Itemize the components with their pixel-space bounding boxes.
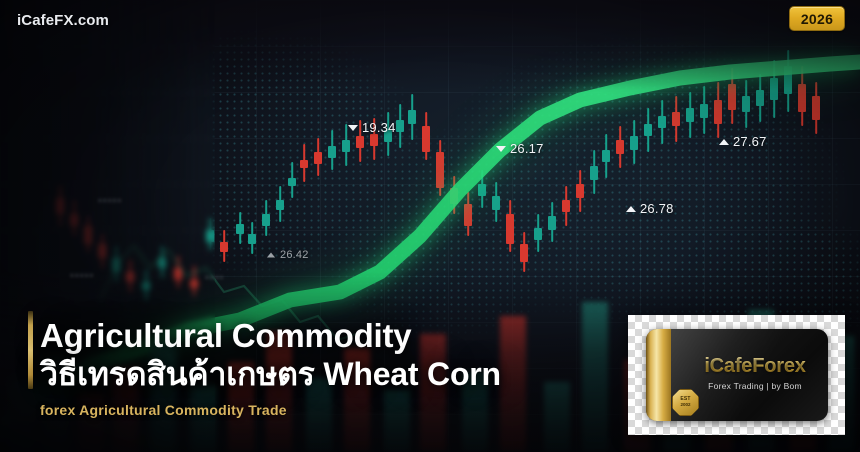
- blurred-label-ghost: •••••: [98, 195, 122, 207]
- triangle-down-icon: [496, 146, 506, 152]
- promotional-banner: ••••• ••••• •••• 19.3426.1727.6726.7826.…: [0, 0, 860, 452]
- blurred-label-ghost: •••••: [70, 270, 94, 282]
- headline-block: Agricultural Commodity วิธีเทรดสินค้าเกษ…: [40, 316, 630, 393]
- price-annotation: 26.17: [496, 141, 544, 156]
- logo-card[interactable]: iCafeForex Forex Trading | by Bom EST 20…: [646, 329, 828, 421]
- logo-tagline: Forex Trading | by Bom: [686, 381, 824, 391]
- seal-year-label: 2002: [680, 403, 690, 408]
- logo-gold-edge: [646, 329, 671, 421]
- blurred-label-ghost: ••••: [205, 272, 224, 284]
- price-value: 26.17: [510, 141, 544, 156]
- site-name: iCafeFX.com: [17, 12, 109, 29]
- triangle-down-icon: [348, 125, 358, 131]
- year-badge: 2026: [789, 6, 845, 31]
- price-value: 27.67: [733, 134, 767, 149]
- price-annotation: 26.42: [266, 249, 309, 261]
- price-value: 26.78: [640, 201, 674, 216]
- price-annotation: 19.34: [348, 120, 396, 135]
- gold-accent-bar: [28, 311, 33, 389]
- price-annotation: 27.67: [719, 134, 767, 149]
- price-annotation: 26.78: [626, 201, 674, 216]
- triangle-up-icon: [626, 206, 636, 212]
- triangle-up-icon: [719, 139, 729, 145]
- logo-brand-name: iCafeForex: [686, 355, 824, 378]
- price-value: 26.42: [280, 249, 309, 261]
- headline-line-1: Agricultural Commodity: [40, 316, 630, 355]
- logo-frame: iCafeForex Forex Trading | by Bom EST 20…: [628, 315, 845, 435]
- headline-subtitle: forex Agricultural Commodity Trade: [40, 402, 287, 418]
- triangle-up-icon: [267, 253, 275, 258]
- headline-line-2: วิธีเทรดสินค้าเกษตร Wheat Corn: [40, 355, 630, 393]
- price-value: 19.34: [362, 120, 396, 135]
